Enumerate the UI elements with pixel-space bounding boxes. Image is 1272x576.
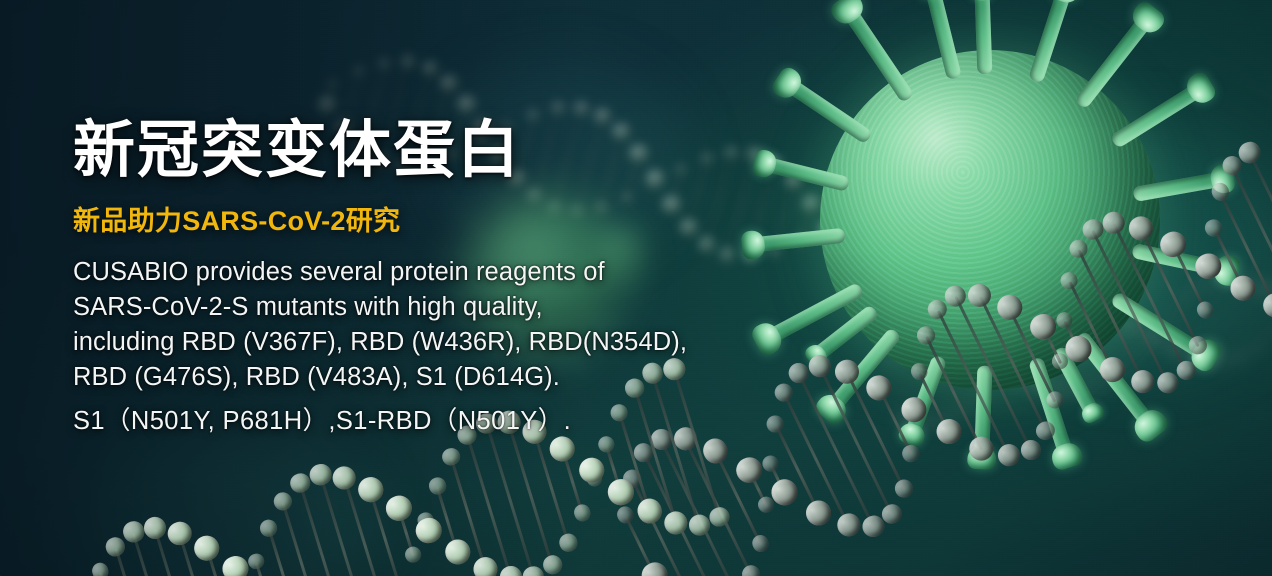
- dna-base-sphere: [802, 496, 835, 529]
- dna-base-sphere: [634, 496, 665, 527]
- dna-base-sphere: [833, 510, 864, 541]
- dna-base-sphere: [165, 519, 195, 549]
- dna-base-sphere: [403, 545, 423, 565]
- dna-base-sphere: [191, 533, 222, 564]
- dna-base-sphere: [1099, 208, 1129, 238]
- dna-base-sphere: [1066, 237, 1090, 261]
- dna-base-sphere: [258, 518, 279, 539]
- dna-base-sphere: [307, 461, 334, 488]
- dna-base-sphere: [994, 440, 1024, 470]
- dna-base-sphere: [355, 474, 386, 505]
- dna-base-sphere: [121, 519, 146, 544]
- dna-base-sphere: [1259, 289, 1272, 321]
- dna-base-sphere: [427, 476, 447, 496]
- text-block: 新冠突变体蛋白 新品助力SARS-CoV-2研究 CUSABIO provide…: [73, 120, 833, 439]
- dna-base-sphere: [661, 508, 690, 537]
- body-line: RBD (G476S), RBD (V483A), S1 (D614G).: [73, 360, 833, 395]
- dna-base-sphere: [909, 361, 931, 383]
- dna-base-sphere: [1127, 366, 1158, 397]
- banner-body: CUSABIO provides several protein reagent…: [73, 255, 833, 439]
- dna-base-sphere: [383, 493, 415, 525]
- dna-base-sphere: [104, 535, 127, 558]
- dna-base-sphere: [1156, 228, 1190, 262]
- dna-base-sphere: [1203, 217, 1225, 239]
- dna-base-sphere: [558, 532, 580, 554]
- body-line-last: S1（N501Y, P681H）,S1-RBD（N501Y）.: [73, 404, 833, 439]
- dna-base-sphere: [900, 443, 922, 465]
- dna-base-sphere: [220, 553, 252, 576]
- body-line: CUSABIO provides several protein reagent…: [73, 255, 833, 290]
- dna-base-sphere: [993, 291, 1026, 324]
- dna-rung: [486, 424, 535, 576]
- dna-base-sphere: [0, 567, 4, 576]
- body-line: including RBD (V367F), RBD (W436R), RBD(…: [73, 325, 833, 360]
- banner-title: 新冠突变体蛋白: [73, 120, 833, 182]
- dna-base-sphere: [1191, 249, 1225, 283]
- dna-base-sphere: [470, 554, 500, 576]
- dna-base-sphere: [440, 446, 462, 468]
- dna-base-sphere: [915, 324, 938, 347]
- dna-base-sphere: [572, 503, 592, 523]
- dna-base-sphere: [442, 536, 474, 568]
- dna-base-sphere: [541, 553, 565, 576]
- promotional-banner: 新冠突变体蛋白 新品助力SARS-CoV-2研究 CUSABIO provide…: [0, 0, 1272, 576]
- dna-base-sphere: [1125, 212, 1157, 244]
- banner-subtitle: 新品助力SARS-CoV-2研究: [73, 199, 833, 238]
- dna-base-sphere: [892, 477, 915, 500]
- dna-base-sphere: [964, 280, 995, 311]
- dna-base-sphere: [732, 453, 766, 487]
- dna-rung: [466, 436, 512, 576]
- dna-base-sphere: [272, 490, 294, 512]
- body-line: SARS-CoV-2-S mutants with high quality,: [73, 290, 833, 325]
- dna-base-sphere: [965, 432, 997, 464]
- dna-base-sphere: [1096, 353, 1129, 386]
- dna-base-sphere: [739, 562, 764, 576]
- dna-base-sphere: [1054, 309, 1075, 330]
- dna-base-sphere: [1058, 270, 1080, 292]
- dna-base-sphere: [605, 476, 637, 508]
- dna-base-sphere: [576, 454, 608, 486]
- dna-base-sphere: [141, 514, 169, 542]
- dna-base-sphere: [330, 463, 359, 492]
- dna-base-sphere: [750, 533, 773, 556]
- dna-base-sphere: [932, 415, 966, 449]
- dna-base-sphere: [1186, 333, 1209, 356]
- dna-base-sphere: [246, 551, 266, 571]
- dna-base-sphere: [1209, 180, 1232, 203]
- dna-base-sphere: [1044, 389, 1067, 412]
- virus-spike-stalk: [974, 0, 992, 74]
- dna-base-sphere: [1026, 310, 1060, 344]
- dna-rung: [508, 423, 554, 566]
- dna-base-sphere: [1017, 436, 1044, 463]
- dna-rung: [299, 484, 347, 576]
- dna-base-sphere: [497, 563, 525, 576]
- dna-base-sphere: [862, 371, 896, 405]
- dna-base-sphere: [897, 392, 931, 426]
- dna-base-sphere: [90, 561, 111, 576]
- dna-base-sphere: [1194, 299, 1216, 321]
- dna-base-sphere: [831, 356, 863, 388]
- dna-base-sphere: [1033, 419, 1058, 444]
- dna-base-sphere: [1226, 271, 1260, 305]
- dna-base-sphere: [759, 453, 780, 474]
